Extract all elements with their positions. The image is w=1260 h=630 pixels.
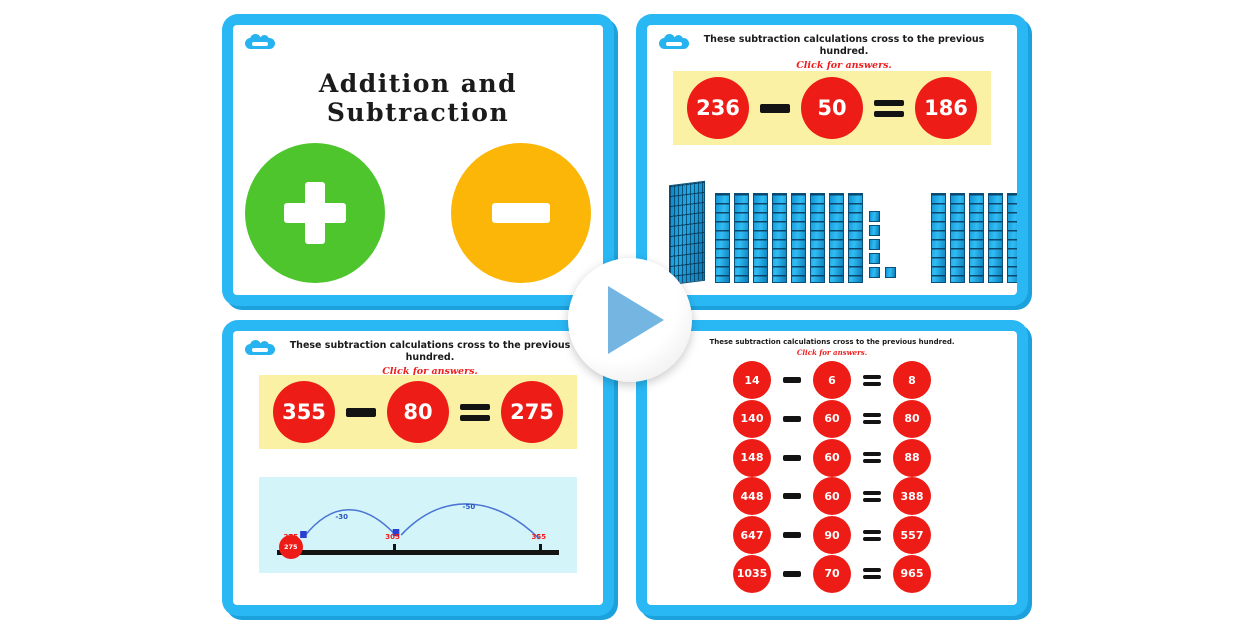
header-instruction: These subtraction calculations cross to …: [681, 34, 1007, 58]
operand-b-bubble[interactable]: 60: [813, 400, 851, 438]
operand-b-bubble[interactable]: 90: [813, 516, 851, 554]
page-title: Addition and Subtraction: [233, 69, 603, 127]
ten-rod-block: [791, 193, 806, 283]
one-cube-block: [869, 239, 880, 250]
ten-rod-block: [753, 193, 768, 283]
ten-rod-block: [772, 193, 787, 283]
subtraction-circle[interactable]: [451, 143, 591, 283]
minus-sign-icon: [781, 526, 803, 544]
minus-sign-icon: [781, 449, 803, 467]
equals-sign-icon: [861, 487, 883, 505]
slide-base-ten-page: These subtraction calculations cross to …: [647, 25, 1017, 295]
minus-sign-icon: [343, 399, 379, 425]
operand-b-bubble[interactable]: 60: [813, 439, 851, 477]
number-line-start-marker[interactable]: 275: [279, 535, 303, 559]
one-cube-block: [869, 211, 880, 222]
one-cube-block: [869, 225, 880, 236]
ten-rod-block: [715, 193, 730, 283]
result-bubble[interactable]: 388: [893, 477, 931, 515]
operand-b-bubble[interactable]: 60: [813, 477, 851, 515]
ten-rod-block: [848, 193, 863, 283]
one-cube-block: [869, 267, 880, 278]
base-ten-manipulatives: [669, 177, 1007, 293]
ten-rod-block: [810, 193, 825, 283]
result-bubble[interactable]: 80: [893, 400, 931, 438]
equation-row[interactable]: 44860388: [733, 477, 931, 515]
slide-title-page: Addition and Subtraction: [233, 25, 603, 295]
minus-sign-icon: [757, 95, 793, 121]
header-instruction: These subtraction calculations cross to …: [267, 340, 593, 364]
operand-b-bubble[interactable]: 70: [813, 555, 851, 593]
slideshow-preview: Addition and Subtraction These subtracti…: [0, 0, 1260, 630]
slide-number-line[interactable]: These subtraction calculations cross to …: [222, 320, 614, 616]
equals-sign-icon: [861, 526, 883, 544]
ten-rod-block-subtracted: [950, 193, 965, 283]
header-click-prompt: Click for answers.: [681, 60, 1007, 72]
one-cube-block: [869, 253, 880, 264]
equation-row[interactable]: 1468: [733, 361, 931, 399]
minus-sign-icon: [781, 487, 803, 505]
operand-a-bubble[interactable]: 1035: [733, 555, 771, 593]
operand-a-bubble[interactable]: 140: [733, 400, 771, 438]
slide-header: These subtraction calculations cross to …: [657, 338, 1007, 358]
equals-sign-icon: [861, 565, 883, 583]
equation-row[interactable]: 1486088: [733, 439, 931, 477]
number-line-axis: [277, 550, 559, 555]
minus-sign-icon: [781, 565, 803, 583]
equation-band: 355 80 275: [259, 375, 577, 449]
play-video-button[interactable]: [568, 258, 692, 382]
minus-icon: [492, 203, 550, 223]
operand-a-bubble[interactable]: 236: [687, 77, 749, 139]
result-bubble[interactable]: 557: [893, 516, 931, 554]
result-bubble[interactable]: 88: [893, 439, 931, 477]
addition-circle[interactable]: [245, 143, 385, 283]
operator-row: [233, 143, 603, 283]
operand-a-bubble[interactable]: 14: [733, 361, 771, 399]
slide-equation-list[interactable]: These subtraction calculations cross to …: [636, 320, 1028, 616]
number-line-jump-arcs: [259, 477, 577, 573]
number-line-tick: [539, 544, 542, 555]
minus-sign-icon: [781, 410, 803, 428]
result-bubble[interactable]: 8: [893, 361, 931, 399]
plus-icon: [284, 182, 346, 244]
number-line-tick: [393, 544, 396, 555]
slide-header: These subtraction calculations cross to …: [267, 340, 593, 378]
equation-row[interactable]: 1406080: [733, 400, 931, 438]
hundred-flat-block: [669, 181, 705, 285]
equals-sign-icon: [861, 410, 883, 428]
slide-base-ten[interactable]: These subtraction calculations cross to …: [636, 14, 1028, 306]
ten-rod-block-subtracted: [1007, 193, 1017, 283]
ten-rod-block: [734, 193, 749, 283]
operand-a-bubble[interactable]: 355: [273, 381, 335, 443]
header-click-prompt: Click for answers.: [657, 349, 1007, 358]
equation-row[interactable]: 103570965: [733, 555, 931, 593]
result-bubble[interactable]: 186: [915, 77, 977, 139]
header-instruction: These subtraction calculations cross to …: [657, 338, 1007, 347]
result-bubble[interactable]: 275: [501, 381, 563, 443]
operand-b-bubble[interactable]: 80: [387, 381, 449, 443]
operand-b-bubble[interactable]: 50: [801, 77, 863, 139]
operand-b-bubble[interactable]: 6: [813, 361, 851, 399]
equation-band: 236 50 186: [673, 71, 991, 145]
equals-sign-icon: [457, 399, 493, 425]
number-line-tick-label: 305: [385, 533, 400, 541]
equals-sign-icon: [871, 95, 907, 121]
ten-rod-block-subtracted: [969, 193, 984, 283]
operand-a-bubble[interactable]: 148: [733, 439, 771, 477]
slide-title[interactable]: Addition and Subtraction: [222, 14, 614, 306]
number-line-tick-label: 355: [532, 533, 547, 541]
twinkl-cloud-logo: [245, 35, 275, 51]
equation-row[interactable]: 64790557: [733, 516, 931, 554]
ten-rod-block-subtracted: [988, 193, 1003, 283]
slide-equation-list-page: These subtraction calculations cross to …: [647, 331, 1017, 605]
operand-a-bubble[interactable]: 647: [733, 516, 771, 554]
slide-header: These subtraction calculations cross to …: [681, 34, 1007, 72]
ten-rod-block: [829, 193, 844, 283]
equals-sign-icon: [861, 371, 883, 389]
ten-rod-block-subtracted: [931, 193, 946, 283]
number-line-jump-label: -30: [335, 513, 348, 521]
one-cube-block: [885, 267, 896, 278]
minus-sign-icon: [781, 371, 803, 389]
operand-a-bubble[interactable]: 448: [733, 477, 771, 515]
equals-sign-icon: [861, 449, 883, 467]
slide-number-line-page: These subtraction calculations cross to …: [233, 331, 603, 605]
result-bubble[interactable]: 965: [893, 555, 931, 593]
play-triangle-icon: [608, 286, 664, 354]
number-line-jump-label: -50: [463, 503, 476, 511]
number-line-diagram: 275305355275-30-50: [259, 477, 577, 573]
equation-grid: 1468140608014860884486038864790557103570…: [671, 361, 993, 593]
